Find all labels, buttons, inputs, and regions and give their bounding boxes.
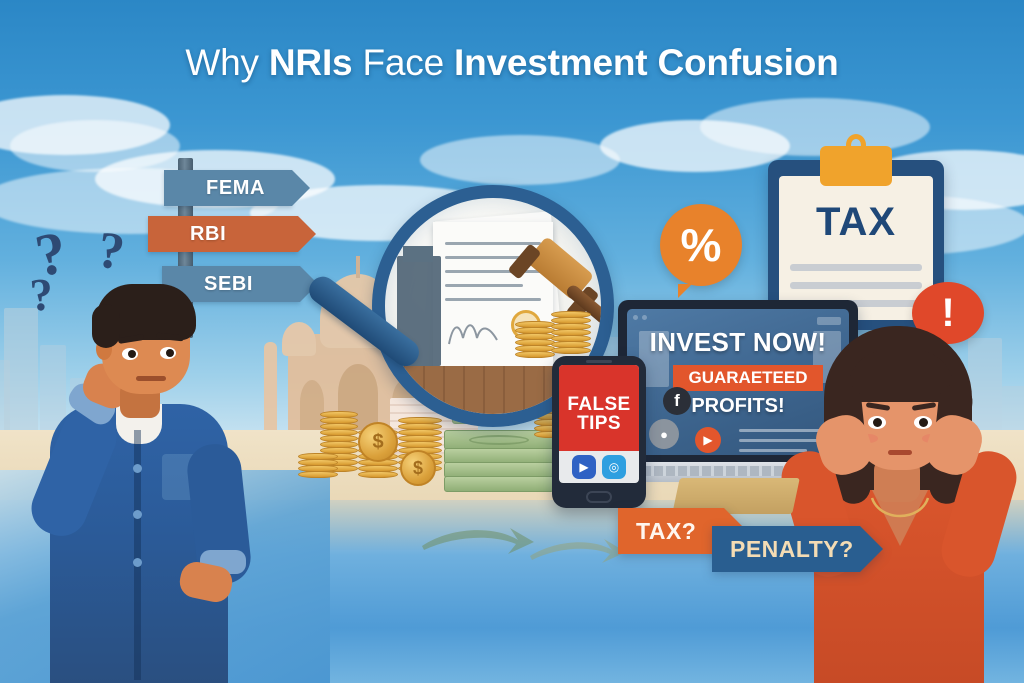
chat-icon[interactable]: ● (649, 419, 679, 449)
page-title: Why NRIs Face Investment Confusion (0, 42, 1024, 84)
phone-screen[interactable]: FALSE TIPS ▶ ◎ (559, 365, 639, 483)
play-icon[interactable]: ▶ (695, 427, 721, 453)
facebook-icon[interactable]: f (663, 387, 691, 415)
phone-home-button[interactable] (586, 491, 612, 503)
title-part-2: NRIs (269, 42, 353, 83)
scam-phone: FALSE TIPS ▶ ◎ (552, 356, 646, 508)
phone-earpiece (586, 360, 612, 363)
title-part-4: Investment Confusion (454, 42, 839, 83)
tax-label: TAX (768, 200, 944, 245)
sign-rbi-label: RBI (190, 223, 226, 246)
flow-arrow-right-icon (528, 532, 628, 573)
stressed-woman (788, 300, 1003, 683)
percent-icon: % (681, 218, 722, 272)
banknote-stack (444, 476, 554, 492)
arrow-tax[interactable]: TAX? (618, 508, 724, 554)
clipboard-ring-icon (846, 134, 866, 156)
video-app-icon[interactable]: ▶ (572, 455, 596, 479)
sign-rbi[interactable]: RBI (148, 216, 298, 252)
flow-arrow-left-icon (418, 520, 538, 565)
title-part-1: Why (185, 42, 268, 83)
arrow-penalty[interactable]: PENALTY? (712, 526, 860, 572)
title-part-3: Face (352, 42, 454, 83)
arrow-tax-label: TAX? (636, 518, 696, 545)
sign-fema[interactable]: FEMA (164, 170, 292, 206)
dollar-coin: $ (358, 422, 398, 462)
confused-man (20, 258, 260, 683)
coin-stack (298, 454, 338, 478)
dollar-coin: $ (400, 450, 436, 486)
camera-app-icon[interactable]: ◎ (602, 455, 626, 479)
percent-bubble: % (660, 204, 742, 286)
illustration-canvas: FEMA RBI SEBI ? ? ? (0, 0, 1024, 683)
sign-fema-label: FEMA (206, 177, 265, 200)
arrow-penalty-label: PENALTY? (730, 536, 854, 563)
phone-headline-2: TIPS (577, 415, 621, 434)
